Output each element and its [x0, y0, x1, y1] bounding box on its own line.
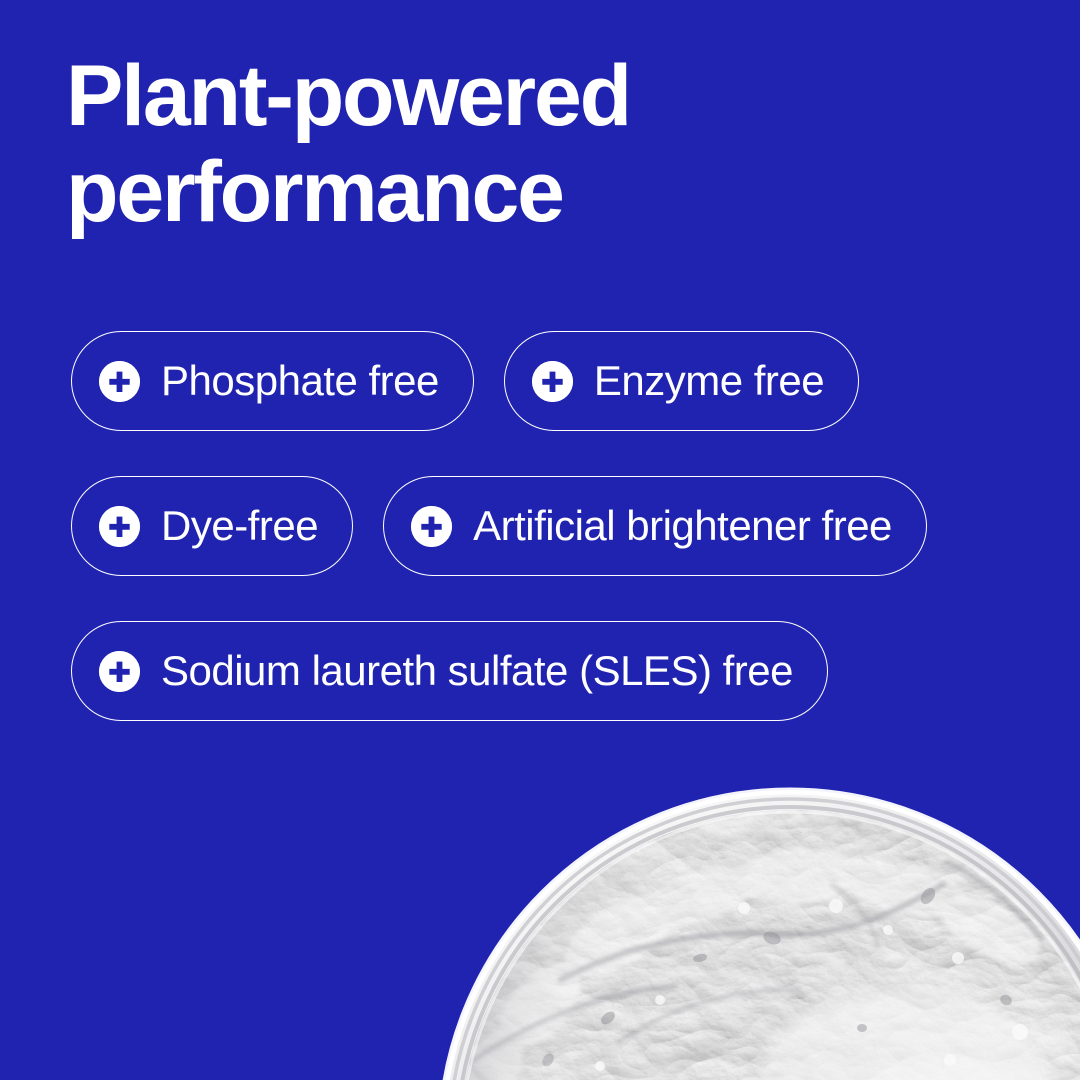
feature-pill-label: Enzyme free	[594, 360, 824, 402]
feature-pill-label: Phosphate free	[161, 360, 439, 402]
feature-pill-label: Sodium laureth sulfate (SLES) free	[161, 650, 793, 692]
feature-pill-label: Artificial brightener free	[473, 505, 892, 547]
feature-pill-row: Dye-free Artificial brightener free	[71, 476, 1031, 576]
feature-pill-phosphate-free[interactable]: Phosphate free	[71, 331, 474, 431]
feature-pill-label: Dye-free	[161, 505, 318, 547]
feature-pill-row: Phosphate free Enzyme free	[71, 331, 1031, 431]
feature-pill-row: Sodium laureth sulfate (SLES) free	[71, 621, 1031, 721]
feature-pill-dye-free[interactable]: Dye-free	[71, 476, 353, 576]
page-title: Plant-powered performance	[66, 48, 966, 241]
feature-pill-artificial-brightener-free[interactable]: Artificial brightener free	[383, 476, 927, 576]
plus-in-circle-icon	[99, 651, 140, 692]
feature-pill-enzyme-free[interactable]: Enzyme free	[504, 331, 859, 431]
feature-pill-list: Phosphate free Enzyme free	[71, 331, 1031, 721]
plus-in-circle-icon	[99, 361, 140, 402]
plus-in-circle-icon	[532, 361, 573, 402]
promo-card: Plant-powered performance Phosphate free	[0, 0, 1080, 1080]
feature-pill-sles-free[interactable]: Sodium laureth sulfate (SLES) free	[71, 621, 828, 721]
plus-in-circle-icon	[99, 506, 140, 547]
plus-in-circle-icon	[411, 506, 452, 547]
